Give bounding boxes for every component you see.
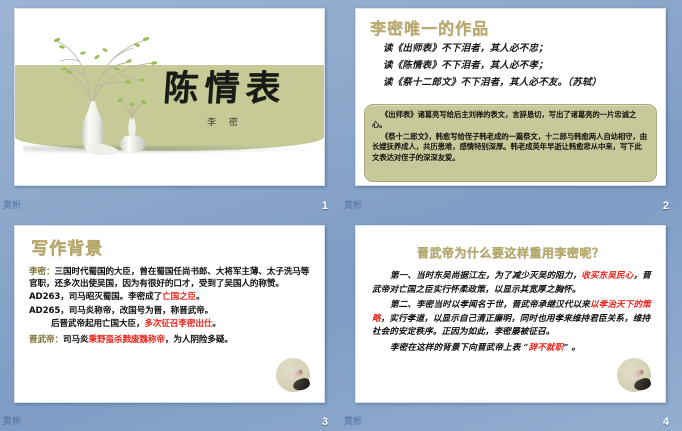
paragraph-highlight: 辞不就职 [529, 343, 564, 353]
ink-stone-decoration [617, 358, 657, 398]
slide-4-title: 晋武帝为什么要这样重用李密呢？ [356, 244, 665, 261]
reason-paragraph: 李密在这样的背景下向晋武帝上表 “辞不就职” 。 [372, 342, 655, 356]
background-line: 李密：三国时代蜀国的大臣，曾在蜀国任尚书郎、大将军主薄、太子洗马等官职，还多次出… [29, 266, 316, 290]
slide-cell-4[interactable]: 晋武帝为什么要这样重用李密呢？ 第一、当时东吴尚据江左，为了减少灭吴的阻力，收买… [341, 215, 682, 431]
quote-line: 读《祭十二郎文》不下泪者，其人必不友。（苏轼） [383, 74, 655, 91]
slide-2-note-box: 《出师表》诸葛亮写给后主刘禅的表文，言辞恳切，写出了诸葛亮的一片忠诚之心。 《祭… [364, 104, 657, 182]
reason-paragraph: 第二、李密当时以孝闻名于世，晋武帝承继汉代以来以孝治天下的策略，实行孝道，以显示… [372, 299, 655, 340]
corner-glyph-4: 赏析 [344, 415, 366, 428]
paragraph-post: ” 。 [563, 343, 580, 353]
slide-3-title: 写作背景 [31, 234, 103, 259]
corner-glyph-2: 赏析 [344, 199, 366, 212]
note-paragraph: 《祭十二郎文》，韩愈写给侄子韩老成的一篇祭文，十二郎与韩愈两人自幼相守，由长嫂抚… [372, 132, 649, 163]
slide-2-title: 李密唯一的作品 [370, 15, 489, 39]
paragraph-pre: 第一、当时东吴尚据江左，为了减少灭吴的阻力， [390, 271, 581, 281]
paragraph-pre: 李密在这样的背景下向晋武帝上表 “ [390, 343, 529, 353]
line-text: AD265，司马炎称帝，改国号为晋，称晋武帝。 [29, 306, 213, 316]
corner-glyph-3: 赏析 [3, 415, 25, 428]
paragraph-post: ，实行孝道，以显示自己清正廉明，同时也用孝来维持君臣关系，维持社会的安定秩序。正… [372, 314, 650, 338]
slide-grid: 陈情表 李 密 赏析 1 李密唯一的作品 读《出师表》不下泪者，其人必不忠； 读… [0, 0, 682, 431]
line-text: 三国时代蜀国的大臣，曾在蜀国任尚书郎、大将军主薄、太子洗马等官职，还多次出使吴国… [29, 267, 309, 289]
slide-3-body: 李密：三国时代蜀国的大臣，曾在蜀国任尚书郎、大将军主薄、太子洗马等官职，还多次出… [29, 266, 316, 347]
line-highlight: 多次征召李密出仕 [144, 319, 212, 329]
slide-cell-2[interactable]: 李密唯一的作品 读《出师表》不下泪者，其人必不忠； 读《陈情表》不下泪者，其人必… [341, 0, 682, 215]
page-number-2: 2 [663, 200, 669, 212]
note-paragraph: 《出师表》诸葛亮写给后主刘禅的表文，言辞恳切，写出了诸葛亮的一片忠诚之心。 [372, 110, 649, 131]
line-text: 后晋武帝起用亡国大臣， [51, 319, 144, 329]
background-line: AD265，司马炎称帝，改国号为晋，称晋武帝。 [29, 305, 316, 317]
paragraph-pre: 第二、李密当时以孝闻名于世，晋武帝承继汉代以来 [390, 300, 590, 310]
slide-2[interactable]: 李密唯一的作品 读《出师表》不下泪者，其人必不忠； 读《陈情表》不下泪者，其人必… [355, 8, 666, 186]
slide-cell-3[interactable]: 写作背景 李密：三国时代蜀国的大臣，曾在蜀国任尚书郎、大将军主薄、太子洗马等官职… [0, 215, 341, 431]
slide-1[interactable]: 陈情表 李 密 [14, 8, 325, 186]
paragraph-highlight: 收买东吴民心 [581, 271, 633, 281]
line-text: 司马炎 [63, 335, 88, 345]
slide-cell-1[interactable]: 陈情表 李 密 赏析 1 [0, 0, 341, 215]
slide-1-author: 李 密 [135, 115, 315, 128]
quote-line: 读《陈情表》不下泪者，其人必不孝； [383, 57, 655, 74]
slide-4-body: 第一、当时东吴尚据江左，为了减少灭吴的阻力，收买东吴民心，晋武帝对亡国之臣实行怀… [372, 270, 655, 358]
background-line: 晋武帝：司马炎秉野蛮杀戮废魏称帝，为人阴险多疑。 [29, 334, 316, 346]
slide-4[interactable]: 晋武帝为什么要这样重用李密呢？ 第一、当时东吴尚据江左，为了减少灭吴的阻力，收买… [355, 225, 666, 403]
page-number-1: 1 [322, 200, 328, 212]
line-highlight: 亡国之臣 [162, 292, 196, 302]
line-tail: ，为人阴险多疑。 [165, 335, 233, 345]
line-highlight: 秉野蛮杀戮废魏称帝 [88, 335, 164, 345]
line-label: 晋武帝： [29, 335, 63, 345]
background-line: AD263，司马昭灭蜀国。李密成了亡国之臣。 [29, 291, 316, 303]
slide-2-quote-list: 读《出师表》不下泪者，其人必不忠； 读《陈情表》不下泪者，其人必不孝； 读《祭十… [383, 40, 655, 91]
quote-line: 读《出师表》不下泪者，其人必不忠； [383, 40, 655, 57]
line-tail: 。 [212, 319, 221, 329]
slide-3[interactable]: 写作背景 李密：三国时代蜀国的大臣，曾在蜀国任尚书郎、大将军主薄、太子洗马等官职… [14, 225, 325, 403]
line-label: 李密： [29, 267, 54, 277]
page-number-4: 4 [663, 416, 669, 428]
page-number-3: 3 [322, 416, 328, 428]
slide-1-title: 陈情表 [134, 71, 316, 106]
corner-glyph-1: 赏析 [3, 199, 25, 212]
line-tail: 。 [196, 292, 205, 302]
background-line: 后晋武帝起用亡国大臣，多次征召李密出仕。 [29, 318, 316, 330]
line-text: AD263，司马昭灭蜀国。李密成了 [29, 292, 162, 302]
reason-paragraph: 第一、当时东吴尚据江左，为了减少灭吴的阻力，收买东吴民心，晋武帝对亡国之臣实行怀… [372, 270, 655, 297]
ink-stone-decoration [276, 358, 316, 398]
